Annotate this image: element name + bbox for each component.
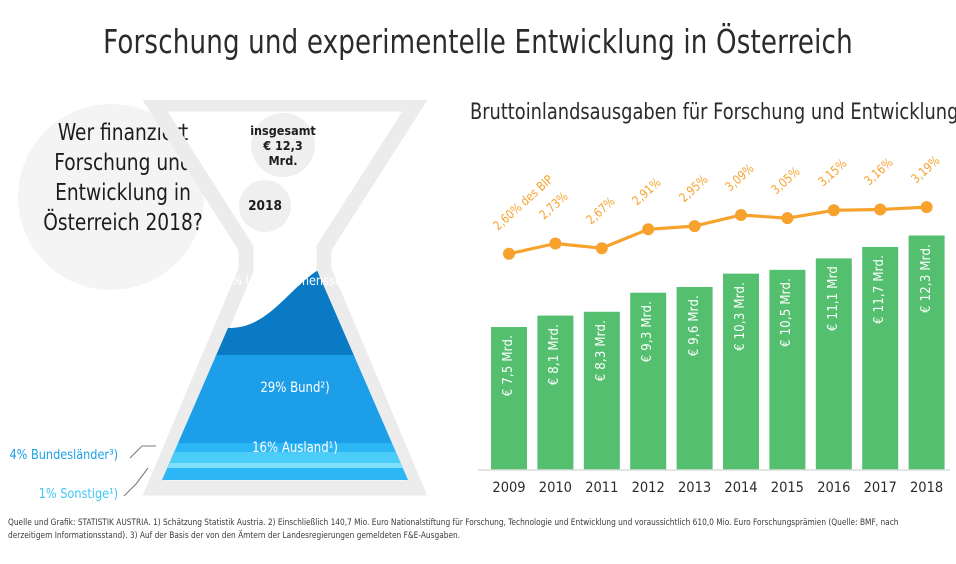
bar-label-2018: € 12,3 Mrd. (919, 244, 934, 313)
chart-title: Bruttoinlandsausgaben für Forschung und … (470, 100, 907, 125)
funnel-label-unternehmenssektor: 50% Unternehmenssektor¹) (160, 272, 430, 291)
bar-label-2011: € 8,3 Mrd. (594, 320, 609, 381)
year-label-2010: 2010 (531, 480, 579, 496)
year-label-2009: 2009 (485, 480, 533, 496)
bip-marker-2018 (921, 201, 933, 213)
bar-label-2016: € 11,1 Mrd (826, 266, 841, 331)
bar-label-2017: € 11,7 Mrd. (872, 255, 887, 324)
page-title: Forschung und experimentelle Entwicklung… (57, 22, 898, 61)
total-amount-badge: insgesamt € 12,3 Mrd. (251, 113, 315, 177)
funnel-label-bund: 29% Bund²) (160, 380, 430, 396)
bip-marker-2012 (642, 223, 654, 235)
bip-marker-2014 (735, 209, 747, 221)
year-label-2015: 2015 (763, 480, 811, 496)
year-label-2018: 2018 (903, 480, 951, 496)
bar-label-2009: € 7,5 Mrd. (501, 335, 516, 396)
source-footnote: Quelle und Grafik: STATISTIK AUSTRIA. 1)… (8, 517, 914, 543)
bip-marker-2015 (781, 212, 793, 224)
bip-marker-2017 (874, 203, 886, 215)
bip-marker-2011 (596, 242, 608, 254)
bar-label-2010: € 8,1 Mrd. (547, 324, 562, 385)
funnel-segment-bund (120, 355, 450, 443)
bip-marker-2013 (689, 220, 701, 232)
leader-line-bundeslaender (130, 446, 156, 458)
bar-label-2015: € 10,5 Mrd. (779, 278, 794, 347)
year-label-2017: 2017 (856, 480, 904, 496)
bip-marker-2009 (503, 248, 515, 260)
bip-marker-2016 (828, 204, 840, 216)
year-badge: 2018 (239, 180, 291, 232)
year-label-2014: 2014 (717, 480, 765, 496)
funnel-segment-sonstige (120, 463, 450, 468)
funnel-label-ausland: 16% Ausland¹) (160, 440, 430, 456)
bip-line (509, 207, 927, 254)
infographic-root: Forschung und experimentelle Entwicklung… (0, 0, 956, 564)
funnel-label-sonstige: 1% Sonstige¹) (8, 486, 118, 502)
bar-label-2013: € 9,6 Mrd. (687, 295, 702, 356)
year-label-2012: 2012 (624, 480, 672, 496)
year-label-2011: 2011 (578, 480, 626, 496)
bar-line-chart: € 7,5 Mrd.€ 8,1 Mrd.€ 8,3 Mrd.€ 9,3 Mrd.… (470, 140, 956, 500)
year-label-2016: 2016 (810, 480, 858, 496)
bar-label-2012: € 9,3 Mrd. (640, 301, 655, 362)
bar-label-2014: € 10,3 Mrd. (733, 282, 748, 351)
year-label-2013: 2013 (671, 480, 719, 496)
bip-marker-2010 (549, 237, 561, 249)
funnel-label-bundeslaender: 4% Bundesländer³) (8, 447, 118, 463)
